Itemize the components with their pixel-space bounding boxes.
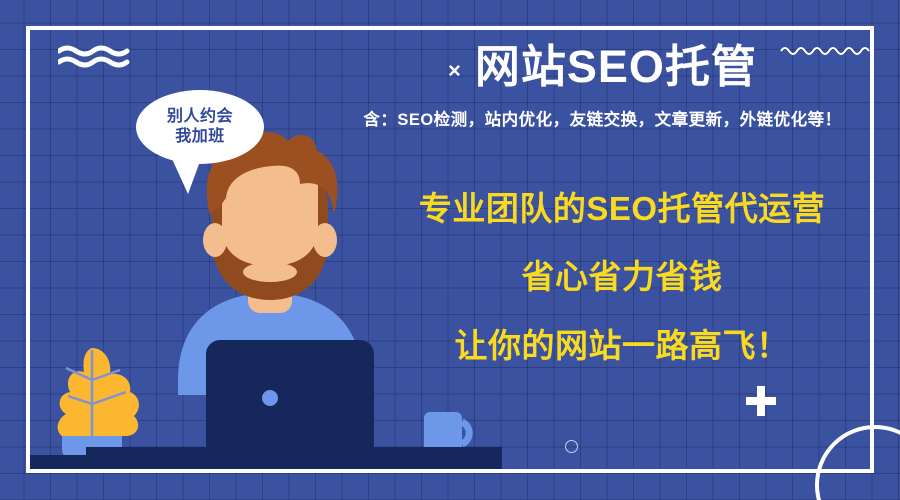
- laptop-logo-dot: [262, 390, 278, 406]
- slogan-list: 专业团队的SEO托管代运营 省心省力省钱 让你的网站一路高飞！: [372, 192, 872, 362]
- seo-promo-banner: 别人约会 我加班 × 网站SEO托管 含：SEO检测，站内优化，友链交换，文章更…: [0, 0, 900, 500]
- x-mark-icon: ×: [448, 60, 461, 82]
- wave-lines-icon: [58, 44, 130, 68]
- plus-icon: [746, 386, 776, 416]
- speech-bubble: 别人约会 我加班: [136, 90, 266, 195]
- plant-leaf-shape: [58, 348, 139, 436]
- speech-bubble-line-1: 别人约会: [167, 107, 233, 127]
- speech-bubble-line-2: 我加班: [175, 127, 225, 147]
- ear-right-shape: [313, 223, 337, 257]
- page-title: 网站SEO托管: [475, 42, 757, 92]
- slogan-line-2: 省心省力省钱: [372, 260, 872, 293]
- ear-left-shape: [203, 223, 227, 257]
- slogan-line-3: 让你的网站一路高飞！: [372, 329, 872, 362]
- desk: [30, 455, 502, 473]
- mouth-shape: [243, 262, 297, 282]
- page-subtitle: 含：SEO检测，站内优化，友链交换，文章更新，外链优化等！: [330, 106, 875, 130]
- title-row: × 网站SEO托管: [330, 42, 875, 92]
- circle-outline-icon: [565, 440, 578, 453]
- mug-handle-shape: [462, 422, 469, 444]
- slogan-line-1: 专业团队的SEO托管代运营: [372, 192, 872, 225]
- headline-block: × 网站SEO托管 含：SEO检测，站内优化，友链交换，文章更新，外链优化等！: [330, 42, 875, 130]
- laptop-shape: [206, 340, 374, 458]
